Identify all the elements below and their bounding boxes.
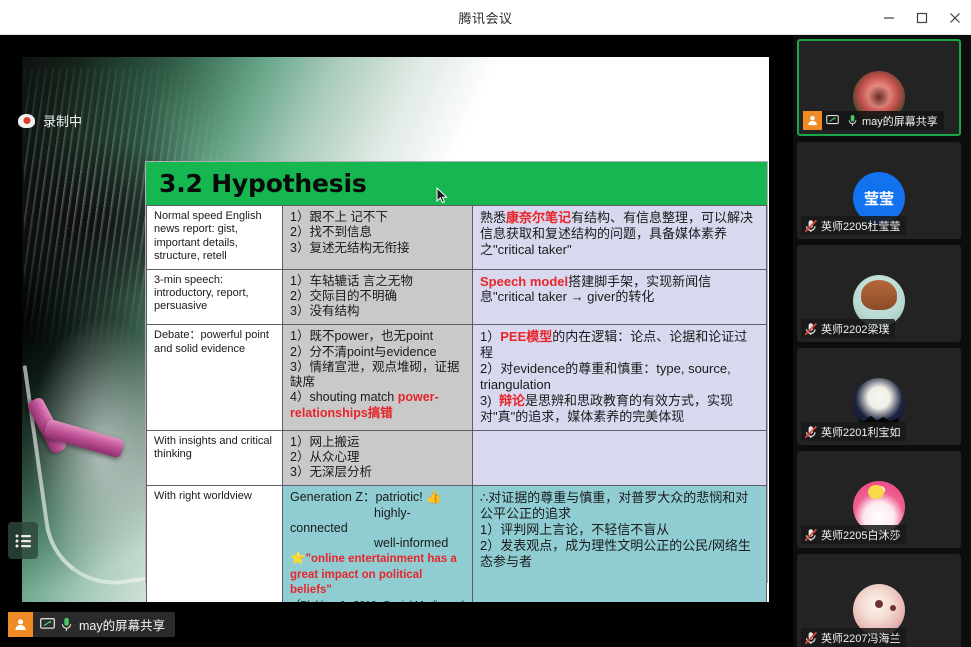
row-problems-cell: 1）既不power，也无point 2）分不清point与evidence 3）… [283, 325, 473, 430]
row-solution-cell: 1）PEE模型的内在逻辑：论点、论据和论证过程2）对evidence的尊重和慎重… [473, 325, 767, 430]
row-label-cell: Debate：powerful point and solid evidence [147, 325, 283, 430]
share-status-name: may的屏幕共享 [79, 615, 175, 634]
participant-tile-4[interactable]: 英师2205白沐莎 [797, 451, 961, 548]
list-item: 2）从众心理 [290, 450, 466, 465]
participants-list-button[interactable] [8, 522, 38, 559]
participant-rail[interactable]: may的屏幕共享 莹莹 英师2205杜莹莹 [793, 35, 971, 647]
list-item: 4）shouting match power-relationships搞错 [290, 390, 466, 421]
participant-name: 英师2201利宝如 [821, 424, 900, 440]
microphone-muted-icon [801, 219, 821, 233]
list-item: 1）既不power，也无point [290, 329, 466, 344]
participant-tile-1[interactable]: 莹莹 英师2205杜莹莹 [797, 142, 961, 239]
hypothesis-table: Normal speed English news report: gist, … [146, 205, 767, 634]
list-item: 2）交际目的不明确 [290, 289, 466, 304]
tencent-meeting-window: 腾讯会议 录制中 [0, 0, 971, 647]
presentation-slide: 3.2 Hypothesis Normal speed English news… [145, 161, 768, 583]
microphone-icon [842, 114, 862, 127]
list-item: 1）跟不上 记不下 [290, 210, 466, 225]
microphone-muted-icon [801, 425, 821, 439]
microphone-muted-icon [801, 322, 821, 336]
slide-title-banner: 3.2 Hypothesis [146, 162, 767, 205]
stage-bottom-bar: may的屏幕共享 [0, 602, 793, 647]
row-label-cell: 3-min speech: introductory, report, pers… [147, 269, 283, 325]
row-problems-cell: 1）跟不上 记不下 2）找不到信息 3）复述无结构无衔接 [283, 206, 473, 270]
slide-title-text: 3.2 Hypothesis [159, 169, 367, 198]
window-controls [872, 0, 971, 35]
list-item: 1）车轱辘话 言之无物 [290, 274, 466, 289]
list-item: 3）情绪宣泄，观点堆砌，证据缺席 [290, 360, 466, 391]
letterbox-left [8, 57, 22, 602]
list-item: 1）网上搬运 [290, 435, 466, 450]
participant-status-bar: 英师2205白沐莎 [801, 525, 906, 544]
share-status-chip[interactable]: may的屏幕共享 [8, 612, 175, 637]
minimize-button[interactable] [872, 0, 905, 35]
screen-share-icon [40, 618, 55, 631]
record-dot-icon [18, 114, 35, 128]
chip-icon-group [33, 617, 79, 632]
list-menu-icon [15, 533, 32, 548]
minimize-icon [883, 12, 895, 24]
participant-tile-0[interactable]: may的屏幕共享 [797, 39, 961, 136]
microphone-icon [61, 617, 72, 632]
participant-name: may的屏幕共享 [862, 113, 938, 129]
chalk-swirl-decor [23, 350, 164, 593]
shared-screen-stage: 录制中 3.2 Hypothesis Normal speed English … [0, 35, 793, 647]
participant-tile-2[interactable]: 英师2202梁璞 [797, 245, 961, 342]
user-icon [8, 612, 33, 637]
participant-name: 英师2202梁璞 [821, 321, 889, 337]
row-problems-cell: 1）车轱辘话 言之无物 2）交际目的不明确 3）没有结构 [283, 269, 473, 325]
participant-tile-5[interactable]: 英师2207冯海兰 [797, 554, 961, 647]
row-solution-cell: 熟悉康奈尔笔记有结构、有信息整理，可以解决信息获取和复述结构的问题，具备媒体素养… [473, 206, 767, 270]
user-icon [803, 111, 822, 130]
maximize-icon [916, 12, 928, 24]
participant-tile-3[interactable]: 英师2201利宝如 [797, 348, 961, 445]
table-row: Debate：powerful point and solid evidence… [147, 325, 767, 430]
row-solution-cell: Speech model搭建脚手架，实现新闻信息"critical taker … [473, 269, 767, 325]
row-label-cell: With insights and critical thinking [147, 430, 283, 486]
table-row: Normal speed English news report: gist, … [147, 206, 767, 270]
title-bar: 腾讯会议 [0, 0, 971, 35]
list-item: 3）无深层分析 [290, 465, 466, 480]
table-row: 3-min speech: introductory, report, pers… [147, 269, 767, 325]
list-item: 3）没有结构 [290, 304, 466, 319]
microphone-muted-icon [801, 528, 821, 542]
letterbox-right [769, 57, 785, 602]
participant-status-bar: 英师2205杜莹莹 [801, 216, 906, 235]
microphone-muted-icon [801, 631, 821, 645]
problem-list: 1）跟不上 记不下 2）找不到信息 3）复述无结构无衔接 [290, 210, 466, 256]
participant-status-bar: 英师2207冯海兰 [801, 628, 906, 647]
table-row: With insights and critical thinking 1）网上… [147, 430, 767, 486]
list-item: 2）分不清point与evidence [290, 345, 466, 360]
participant-status-bar: may的屏幕共享 [803, 111, 944, 130]
participant-status-bar: 英师2201利宝如 [801, 422, 906, 441]
close-button[interactable] [938, 0, 971, 35]
participant-name: 英师2205白沐莎 [821, 527, 900, 543]
close-icon [949, 12, 961, 24]
list-item: 3）复述无结构无衔接 [290, 241, 466, 256]
maximize-button[interactable] [905, 0, 938, 35]
mouse-cursor-icon [436, 187, 448, 205]
problem-list: 1）网上搬运 2）从众心理 3）无深层分析 [290, 435, 466, 481]
row-label-cell: Normal speed English news report: gist, … [147, 206, 283, 270]
participant-name: 英师2205杜莹莹 [821, 218, 900, 234]
screen-share-icon [822, 115, 842, 126]
list-item: 2）找不到信息 [290, 225, 466, 240]
window-title: 腾讯会议 [458, 8, 512, 27]
row-solution-cell [473, 430, 767, 486]
participant-status-bar: 英师2202梁璞 [801, 319, 895, 338]
problem-list: 1）车轱辘话 言之无物 2）交际目的不明确 3）没有结构 [290, 274, 466, 320]
row-problems-cell: 1）网上搬运 2）从众心理 3）无深层分析 [283, 430, 473, 486]
recording-label: 录制中 [43, 111, 82, 130]
recording-indicator: 录制中 [18, 111, 82, 130]
problem-list: 1）既不power，也无point 2）分不清point与evidence 3）… [290, 329, 466, 421]
participant-name: 英师2207冯海兰 [821, 630, 900, 646]
hypothesis-table-body: Normal speed English news report: gist, … [147, 206, 767, 634]
